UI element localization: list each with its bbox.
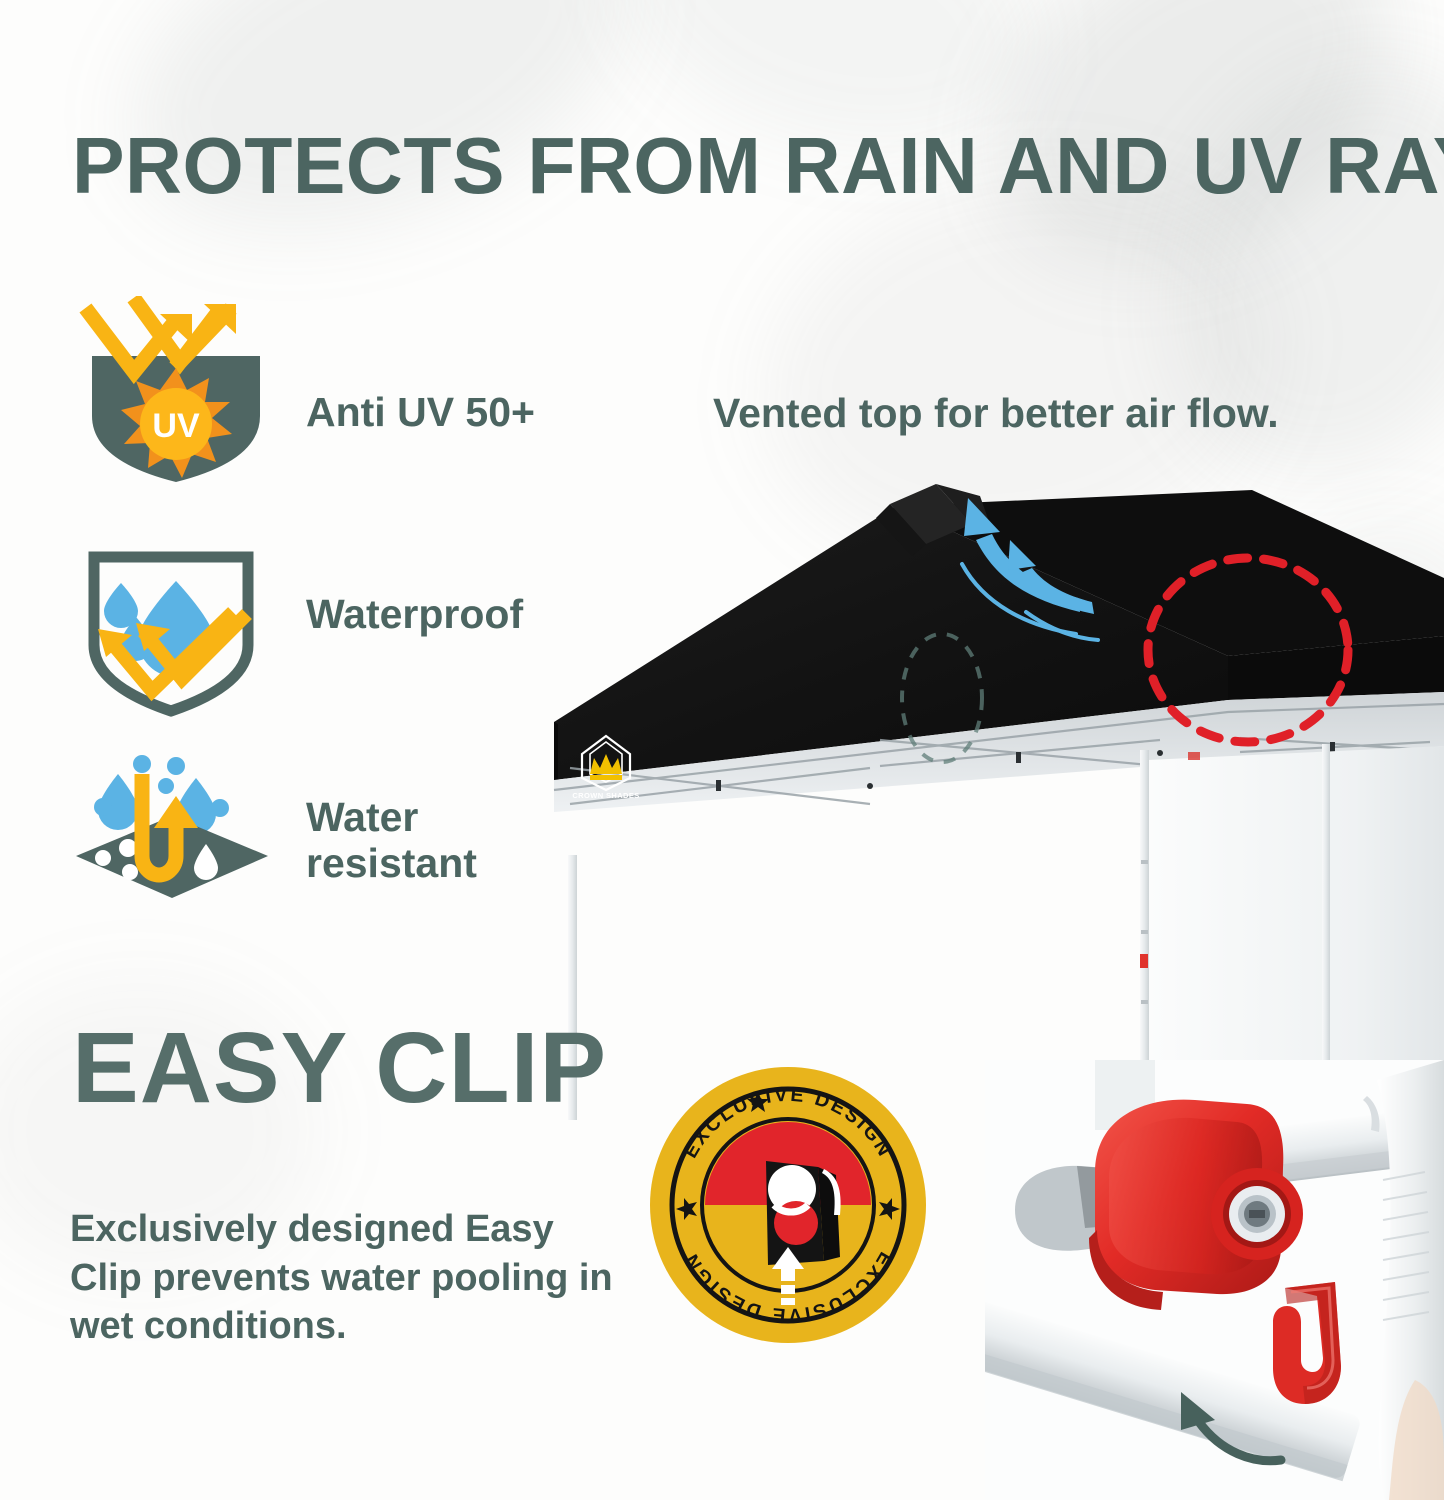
feature-label-water-resistant-line1: Water — [306, 795, 477, 841]
easy-clip-description: Exclusively designed Easy Clip prevents … — [70, 1205, 615, 1351]
airflow-arrows-icon — [952, 488, 1182, 658]
canopy-leg-release-button — [1140, 954, 1148, 968]
feature-label-water-resistant-line2: resistant — [306, 841, 477, 887]
uv-badge-text: UV — [152, 407, 200, 445]
background-shadow — [1107, 10, 1444, 530]
infographic-canvas: PROTECTS FROM RAIN AND UV RAYS UV — [0, 0, 1444, 1500]
feature-label-waterproof: Waterproof — [306, 592, 523, 638]
easy-clip-heading: EASY CLIP — [72, 1018, 607, 1118]
vented-top-caption: Vented top for better air flow. — [713, 390, 1279, 437]
crown-shades-logo-text: CROWN SHADES — [572, 791, 639, 800]
canopy-sidewall — [1148, 746, 1444, 1096]
exclusive-design-badge: EXCLUSIVE DESIGN EXCLUSIVE DESIGN — [648, 1065, 928, 1345]
easy-clip-photo — [985, 1060, 1444, 1500]
feature-label-anti-uv: Anti UV 50+ — [306, 390, 535, 436]
page-title: PROTECTS FROM RAIN AND UV RAYS — [72, 126, 1353, 206]
feature-label-water-resistant: Water resistant — [306, 795, 477, 887]
waterproof-shield-icon — [76, 545, 266, 720]
canopy-leg-corner — [1140, 750, 1149, 1100]
water-resistant-surface-icon — [72, 752, 272, 902]
canopy-leg-mid — [1322, 744, 1330, 1064]
uv-shield-icon: UV — [76, 296, 276, 486]
